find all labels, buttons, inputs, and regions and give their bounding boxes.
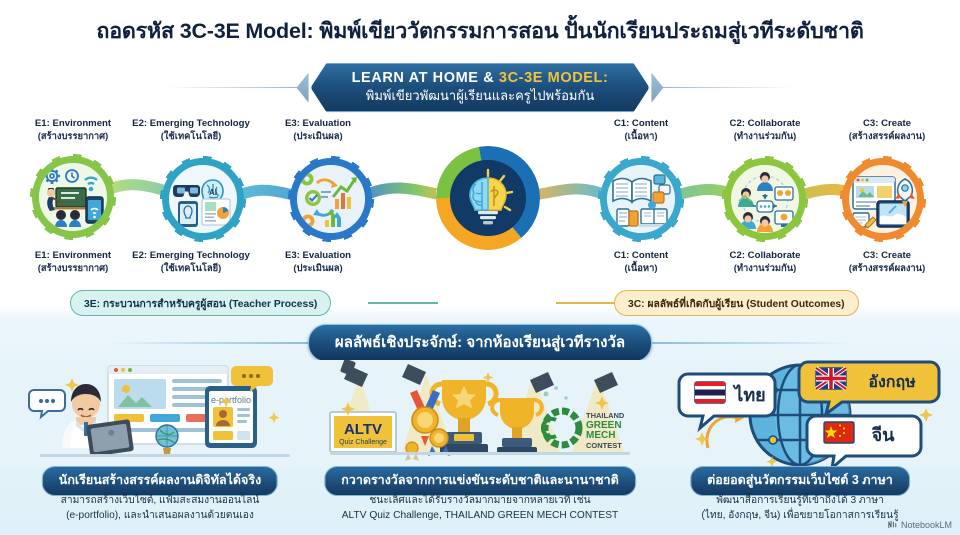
node-code-c1-b: C1: Content [614,250,668,261]
node-bottom-label-e3: E3: Evaluation (ประเมินผล) [243,250,393,274]
open-book-icon [607,165,675,233]
bubble-label-thai: ไทย [732,384,765,405]
classroom-wifi-icon [39,163,107,231]
outcome-panel-3-title: ต่อยอดสู่นวัตกรรมเว็บไซต์ 3 ภาษา [690,466,910,496]
outcome-panel-1-title: นักเรียนสร้างสรรค์ผลงานดิจิทัลได้จริง [42,466,278,496]
page-title-bar: ถอดรหัส 3C-3E Model: พิมพ์เขียววัตกรรมกา… [0,18,960,45]
band-rule-3e [368,302,438,304]
ai-vr-tablet-icon: AI AI [169,165,237,233]
outcome-panel-1-desc: สามารถสร้างเว็บไซต์, แฟ้มสะสมงานออนไลน์ … [0,494,320,524]
section2-header: ผลลัพธ์เชิงประจักษ์: จากห้องเรียนสู่เวที… [0,324,960,362]
ribbon-line1-highlight: 3C-3E MODEL: [499,70,609,86]
outcome-panel-2-title: กวาดรางวัลจากการแข่งขันระดับชาติและนานาช… [324,466,636,496]
rocket-webpage-icon [849,165,917,233]
altv-badge-text-1: ALTV [344,421,382,438]
outcome-panel-3: ไทย อังกฤษ [640,360,960,535]
greenmech-line4: CONTEST [586,441,622,450]
brain-lightbulb-icon [450,160,526,236]
outcome-panel-3-desc-line1: พัฒนาสื่อการเรียนรู้ที่เข้าถึงได้ 3 ภาษา [640,494,960,509]
chart-gears-icon [297,165,365,233]
node-top-label-e3: E3: Evaluation (ประเมินผล) [243,118,393,142]
people-network-icon [731,165,799,233]
ribbon-cap-right [651,73,663,103]
student-tablet-eportfolio-art: e-portfolio [0,360,320,468]
outcome-panel-2-desc: ชนะเลิศและได้รับรางวัลมากมายจากหลายเวที … [320,494,640,524]
ribbon-rule-right [663,87,793,88]
bubble-label-english: อังกฤษ [868,373,916,391]
node-thai-c3-b: (สร้างสรรค์ผลงาน) [812,262,960,274]
model-diagram: E1: Environment (สร้างบรรยากาศ) E2: Emer… [0,118,960,318]
node-thai-c3: (สร้างสรรค์ผลงาน) [812,130,960,142]
node-bottom-label-c3: C3: Create (สร้างสรรค์ผลงาน) [812,250,960,274]
outcome-panel-2: ALTV Quiz Challenge THAILAND GREEN MECH … [320,360,640,535]
ribbon-rule-left [167,87,297,88]
page-title: ถอดรหัส 3C-3E Model: พิมพ์เขียววัตกรรมกา… [0,18,960,45]
ribbon-body: LEARN AT HOME & 3C-3E MODEL: พิมพ์เขียวพ… [311,63,650,112]
node-code-c3-b: C3: Create [863,250,911,261]
ribbon-cap-left [297,73,309,103]
outcome-panel-1: e-portfolio [0,360,320,535]
bubble-label-chinese: จีน [871,425,895,445]
trophies-awards-art: ALTV Quiz Challenge THAILAND GREEN MECH … [320,360,640,468]
model-node-e3[interactable] [288,156,374,242]
node-code-c3: C3: Create [863,118,911,129]
svg-text:e-portfolio: e-portfolio [211,395,251,405]
node-code-e3-b: E3: Evaluation [285,250,351,261]
node-top-label-c3: C3: Create (สร้างสรรค์ผลงาน) [812,118,960,142]
greenmech-line3: MECH [586,430,615,441]
model-node-e1[interactable] [30,154,116,240]
ribbon-line-2: พิมพ์เขียวพัฒนาผู้เรียนและครูไปพร้อมกัน [352,88,609,104]
node-thai-e3: (ประเมินผล) [243,130,393,142]
node-code-e3: E3: Evaluation [285,118,351,129]
node-code-e1-b: E1: Environment [35,250,111,261]
node-code-e2-b: E2: Emerging Technology [132,250,250,261]
infographic-page: ถอดรหัส 3C-3E Model: พิมพ์เขียววัตกรรมกา… [0,0,960,535]
band-rule-3c [556,302,614,304]
section2-rule-right [652,342,852,344]
outcome-panel-2-desc-line2: ALTV Quiz Challenge, THAILAND GREEN MECH… [320,509,640,524]
node-thai-e3-b: (ประเมินผล) [243,262,393,274]
model-node-c3[interactable] [840,156,926,242]
node-code-e2: E2: Emerging Technology [132,118,250,129]
hero-ribbon-banner: LEARN AT HOME & 3C-3E MODEL: พิมพ์เขียวพ… [0,63,960,112]
globe-three-languages-art: ไทย อังกฤษ [640,360,960,468]
node-code-c1: C1: Content [614,118,668,129]
svg-text:AI: AI [209,188,217,197]
notebooklm-icon [887,519,898,530]
section2-heading: ผลลัพธ์เชิงประจักษ์: จากห้องเรียนสู่เวที… [308,324,652,362]
model-node-e2[interactable]: AI AI [160,156,246,242]
band-label-3e: 3E: กระบวนการสำหรับครูผู้สอน (Teacher Pr… [70,290,331,316]
node-code-e1: E1: Environment [35,118,111,129]
altv-badge-text-2: Quiz Challenge [339,439,387,446]
model-node-c2[interactable] [722,156,808,242]
outcomes-panels: e-portfolio [0,360,960,535]
greenmech-line1: THAILAND [586,411,625,420]
node-code-c2: C2: Collaborate [730,118,801,129]
watermark: NotebookLM [887,519,952,530]
outcome-panel-2-desc-line1: ชนะเลิศและได้รับรางวัลมากมายจากหลายเวที … [320,494,640,509]
band-label-3c: 3C: ผลลัพธ์ที่เกิดกับผู้เรียน (Student O… [614,290,859,316]
model-node-c1[interactable] [598,156,684,242]
outcome-panel-1-desc-line2: (e-portfolio), และนำเสนอผลงานด้วยตนเอง [0,509,320,524]
node-code-c2-b: C2: Collaborate [730,250,801,261]
ribbon-line-1: LEARN AT HOME & 3C-3E MODEL: [352,70,609,87]
ribbon-line1-prefix: LEARN AT HOME & [352,70,499,86]
section2-rule-left [108,342,308,344]
watermark-label: NotebookLM [901,520,952,530]
model-center-node[interactable] [436,146,540,250]
outcome-panel-1-desc-line1: สามารถสร้างเว็บไซต์, แฟ้มสะสมงานออนไลน์ [0,494,320,509]
